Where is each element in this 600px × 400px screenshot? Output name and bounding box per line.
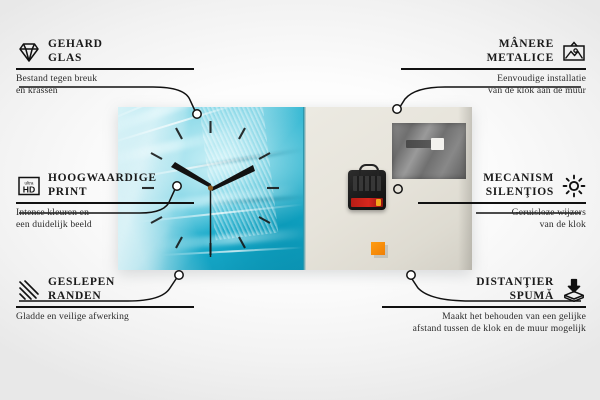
feature-desc-line1: Intense kleuren en [16, 207, 89, 218]
feature-title-line1: DISTANŢIER [476, 276, 554, 288]
feature-title-line1: HOOGWAARDIGE [48, 172, 157, 184]
feature-title-line1: MÂNERE [499, 38, 554, 50]
diamond-icon [16, 39, 41, 64]
infographic-canvas: GEHARD GLAS Bestand tegen breuk en krass… [0, 0, 600, 400]
feature-hoogwaardige-print: ultra HD HOOGWAARDIGE PRINT Intense kleu… [16, 172, 194, 232]
feature-title-line1: GESLEPEN [48, 276, 115, 288]
feature-title-line2: RANDEN [48, 290, 101, 302]
feature-desc-line2: afstand tussen de klok en de muur mogeli… [413, 323, 586, 334]
feature-rule [16, 202, 194, 204]
feature-gehard-glas: GEHARD GLAS Bestand tegen breuk en krass… [16, 38, 194, 98]
foam-spacer [371, 242, 385, 255]
feature-rule [16, 68, 194, 70]
feature-mecanism-silentios: MECANISM SILENŢIOS Geruisloze wijzers va… [418, 172, 586, 232]
feature-distantier-spuma: DISTANŢIER SPUMĂ Maakt het behouden van … [382, 276, 586, 336]
ultra-hd-icon: ultra HD [16, 173, 41, 198]
gear-icon [561, 173, 586, 198]
clock-movement [348, 170, 386, 210]
feature-desc-line1: Eenvoudige installatie [497, 73, 586, 84]
feature-rule [418, 202, 586, 204]
feature-title-line1: GEHARD [48, 38, 103, 50]
feature-title-line2: GLAS [48, 52, 82, 64]
diagonal-lines-icon [16, 277, 41, 302]
feature-rule [401, 68, 586, 70]
battery [351, 198, 383, 207]
feature-rule [16, 306, 194, 308]
feature-desc-line1: Maakt het behouden van een gelijke [442, 311, 586, 322]
feature-desc-line1: Geruisloze wijzers [512, 207, 586, 218]
metal-hanger-plate [392, 123, 466, 179]
feature-desc-line2: van de klok aan de muur [488, 85, 586, 96]
foam-spacer-icon [561, 277, 586, 302]
picture-frame-icon [561, 39, 586, 64]
feature-title-line2: METALICE [487, 52, 554, 64]
feature-desc-line2: van de klok [540, 219, 586, 230]
feature-desc-line1: Bestand tegen breuk [16, 73, 97, 84]
feature-title-line1: MECANISM [483, 172, 554, 184]
feature-desc-line2: en krassen [16, 85, 58, 96]
svg-text:HD: HD [23, 184, 35, 194]
feature-desc-line2: een duidelijk beeld [16, 219, 92, 230]
feature-title-line2: SPUMĂ [510, 290, 554, 302]
feature-desc-line1: Gladde en veilige afwerking [16, 311, 129, 322]
feature-geslepen-randen: GESLEPEN RANDEN Gladde en veilige afwerk… [16, 276, 194, 323]
feature-rule [382, 306, 586, 308]
feature-title-line2: SILENŢIOS [486, 186, 554, 198]
feature-manere-metalice: MÂNERE METALICE Eenvoudige installatie v… [401, 38, 586, 98]
feature-title-line2: PRINT [48, 186, 87, 198]
